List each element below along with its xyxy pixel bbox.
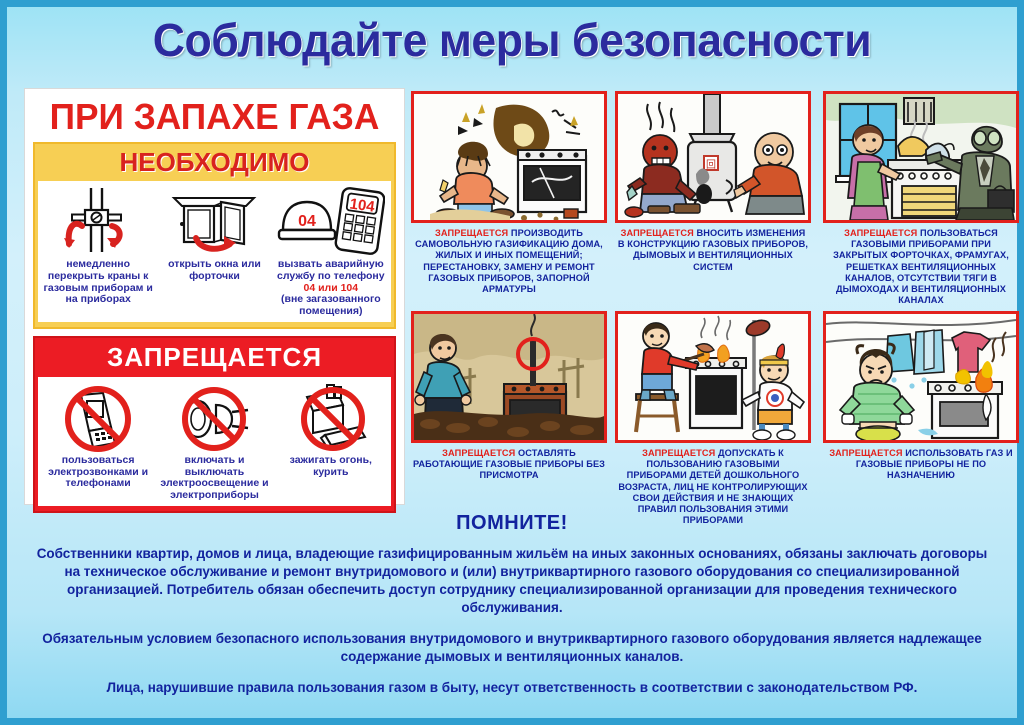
illustration-caption: ЗАПРЕЩАЕТСЯ ВНОСИТЬ ИЗМЕНЕНИЯ В КОНСТРУК… [615, 223, 811, 273]
forbidden-item-smoking-caption: зажигать огонь, курить [273, 453, 388, 479]
svg-text:04: 04 [298, 213, 316, 230]
necessary-item-window: открыть окна или форточки [157, 185, 272, 283]
phone-caption-line1: вызвать аварийную [278, 258, 384, 270]
phone-caption-line5: помещения) [299, 305, 362, 317]
closed-window-inspector-icon [823, 91, 1019, 223]
phone-caption-numbers: 04 или 104 [304, 282, 359, 294]
illustration-card: ЗАПРЕЩАЕТСЯ ПОЛЬЗОВАТЬСЯ ГАЗОВЫМИ ПРИБОР… [823, 91, 1019, 307]
forbidden-section: ЗАПРЕЩАЕТСЯ [33, 336, 396, 513]
footer-paragraph-1: Собственники квартир, домов и лица, влад… [34, 545, 990, 617]
telephone-icon: 04 104 [273, 185, 388, 257]
caption-keyword: ЗАПРЕЩАЕТСЯ [642, 448, 715, 458]
illustration-grid: ЗАПРЕЩАЕТСЯ ПРОИЗВОДИТЬ САМОВОЛЬНУЮ ГАЗИ… [411, 91, 1023, 506]
illustration-caption: ЗАПРЕЩАЕТСЯ ИСПОЛЬЗОВАТЬ ГАЗ И ГАЗОВЫЕ П… [823, 443, 1019, 482]
children-at-stove-icon [615, 311, 811, 443]
remember-heading: ПОМНИТЕ! [7, 512, 1017, 535]
no-electric-switch-icon [157, 381, 272, 453]
necessary-heading: НЕОБХОДИМО [38, 147, 391, 181]
gas-smell-panel: ПРИ ЗАПАХЕ ГАЗА НЕОБХОДИМО [25, 89, 404, 504]
poster-title-bar: Соблюдайте меры безопасности [7, 13, 1017, 67]
gas-valve-icon [41, 185, 156, 257]
forbidden-item-phone-caption: пользоваться электрозвонками и телефонам… [41, 453, 156, 490]
necessary-item-valve-caption: немедленно перекрыть краны к газовым при… [41, 257, 156, 306]
illustration-card: 回 [615, 91, 811, 273]
caption-keyword: ЗАПРЕЩАЕТСЯ [435, 228, 508, 238]
necessary-item-phone: 04 104 вызвать аварийную [273, 185, 388, 318]
illustration-caption: ЗАПРЕЩАЕТСЯ ПРОИЗВОДИТЬ САМОВОЛЬНУЮ ГАЗИ… [411, 223, 607, 295]
necessary-item-phone-caption: вызвать аварийную службу по телефону 04 … [273, 257, 388, 318]
illustration-caption: ЗАПРЕЩАЕТСЯ ПОЛЬЗОВАТЬСЯ ГАЗОВЫМИ ПРИБОР… [823, 223, 1019, 307]
necessary-items: немедленно перекрыть краны к газовым при… [38, 181, 391, 322]
svg-text:回: 回 [706, 159, 716, 171]
forbidden-item-switch-caption: включать и выключать электроосвещение и … [157, 453, 272, 502]
necessary-item-valve: немедленно перекрыть краны к газовым при… [41, 185, 156, 306]
necessary-section: НЕОБХОДИМО [33, 142, 396, 329]
footer-paragraph-2: Обязательным условием безопасного исполь… [34, 630, 990, 666]
caption-keyword: ЗАПРЕЩАЕТСЯ [844, 228, 917, 238]
caption-keyword: ЗАПРЕЩАЕТСЯ [621, 228, 694, 238]
footer-paragraph-3: Лица, нарушившие правила пользования газ… [34, 679, 990, 697]
open-window-icon [157, 185, 272, 257]
footer-text: Собственники квартир, домов и лица, влад… [29, 545, 995, 711]
phone-caption-line2: службу по телефону [277, 270, 385, 282]
forbidden-item-switch: включать и выключать электроосвещение и … [157, 381, 272, 502]
illustration-card: ЗАПРЕЩАЕТСЯ ОСТАВЛЯТЬ РАБОТАЮЩИЕ ГАЗОВЫЕ… [411, 311, 607, 482]
forbidden-item-phone: пользоваться электрозвонками и телефонам… [41, 381, 156, 490]
drying-laundry-stove-fire-icon [823, 311, 1019, 443]
unattended-stove-ruins-icon [411, 311, 607, 443]
illustration-caption: ЗАПРЕЩАЕТСЯ ОСТАВЛЯТЬ РАБОТАЮЩИЕ ГАЗОВЫЕ… [411, 443, 607, 482]
page-title: Соблюдайте меры безопасности [22, 13, 1002, 67]
forbidden-item-smoking: зажигать огонь, курить [273, 381, 388, 479]
illustration-card: ЗАПРЕЩАЕТСЯ ИСПОЛЬЗОВАТЬ ГАЗ И ГАЗОВЫЕ П… [823, 311, 1019, 482]
caption-keyword: ЗАПРЕЩАЕТСЯ [829, 448, 902, 458]
illustration-card: ЗАПРЕЩАЕТСЯ ПРОИЗВОДИТЬ САМОВОЛЬНУЮ ГАЗИ… [411, 91, 607, 295]
phone-caption-line4: (вне загазованного [281, 293, 381, 305]
no-smoking-icon [273, 381, 388, 453]
forbidden-heading: ЗАПРЕЩАЕТСЯ [38, 340, 391, 377]
illustration-card: ЗАПРЕЩАЕТСЯ ДОПУСКАТЬ К ПОЛЬЗОВАНИЮ ГАЗО… [615, 311, 811, 527]
forbidden-items: пользоваться электрозвонками и телефонам… [38, 377, 391, 506]
caption-body: ПОЛЬЗОВАТЬСЯ ГАЗОВЫМИ ПРИБОРАМИ ПРИ ЗАКР… [833, 228, 1009, 305]
no-phone-icon [41, 381, 156, 453]
safety-poster: Соблюдайте меры безопасности ПРИ ЗАПАХЕ … [0, 0, 1024, 725]
explosion-kitchen-icon [411, 91, 607, 223]
boiler-repair-icon: 回 [615, 91, 811, 223]
caption-keyword: ЗАПРЕЩАЕТСЯ [442, 448, 515, 458]
necessary-item-window-caption: открыть окна или форточки [157, 257, 272, 283]
gas-smell-heading: ПРИ ЗАПАХЕ ГАЗА [32, 92, 398, 140]
svg-text:104: 104 [348, 195, 376, 215]
